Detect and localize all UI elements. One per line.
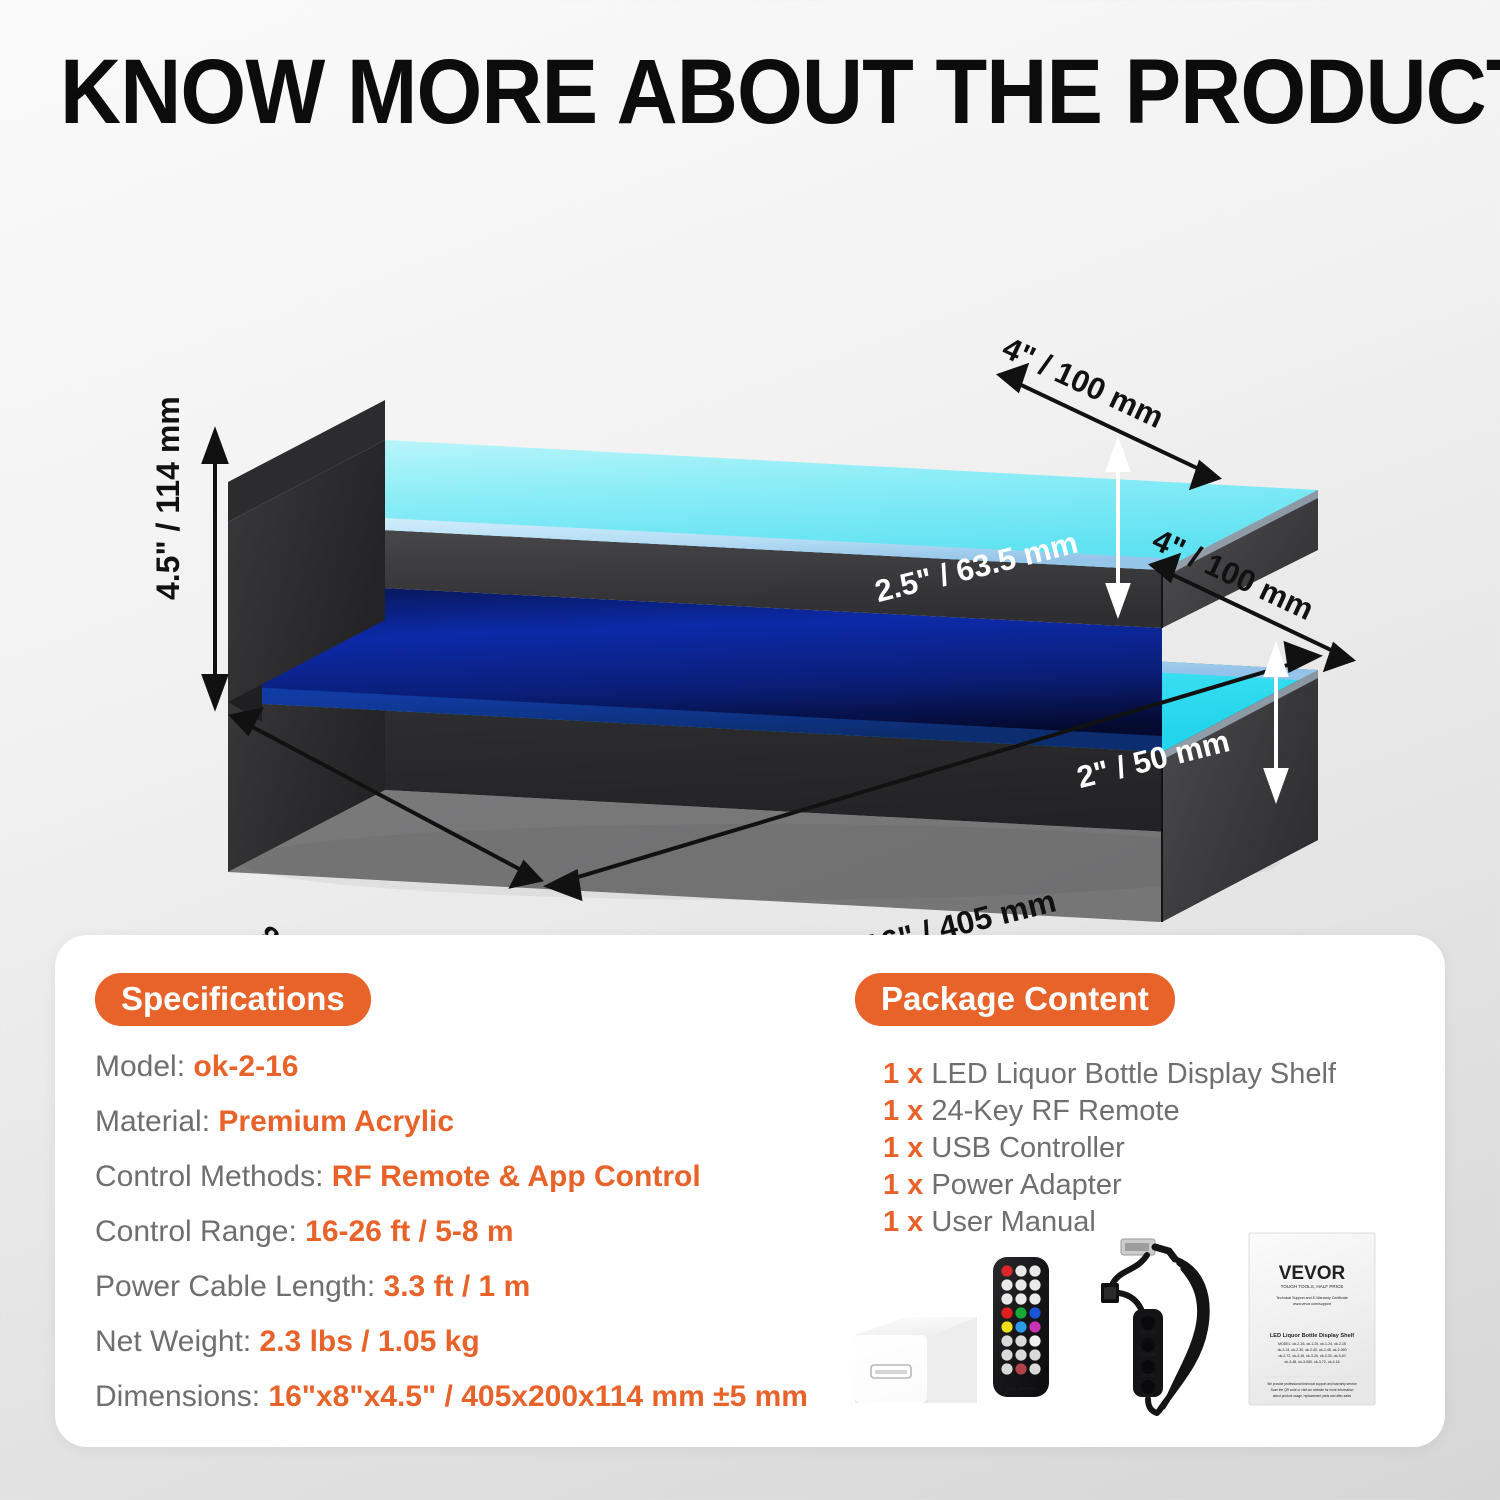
spec-value: 16"x8"x4.5" / 405x200x114 mm ±5 mm — [268, 1380, 808, 1413]
svg-text:MODE: MODE — [1142, 1373, 1155, 1378]
specifications-badge: Specifications — [95, 973, 371, 1026]
item-name: Power Adapter — [931, 1169, 1121, 1201]
item-qty: 1 x — [883, 1095, 923, 1127]
product-diagram: 4" / 100 mm 4" / 100 mm 4.5" / 114 mm 2.… — [0, 150, 1500, 930]
spec-value: Premium Acrylic — [218, 1105, 454, 1138]
accessory-photos: 2.4G Wireless ON/ — [845, 1225, 1405, 1425]
info-card: Specifications Model: ok-2-16 Material: … — [55, 935, 1445, 1447]
spec-key: Model: — [95, 1050, 185, 1083]
spec-value: 3.3 ft / 1 m — [384, 1270, 531, 1303]
item-name: 24-Key RF Remote — [931, 1095, 1179, 1127]
manual-brand-text: VEVOR — [1279, 1263, 1346, 1284]
spec-row: Control Range: 16-26 ft / 5-8 m — [95, 1217, 895, 1247]
item-qty: 1 x — [883, 1132, 923, 1164]
spec-row: Control Methods: RF Remote & App Control — [95, 1162, 895, 1192]
spec-key: Control Methods: — [95, 1160, 323, 1193]
list-item: 1 x LED Liquor Bottle Display Shelf — [883, 1056, 1415, 1093]
spec-row: Net Weight: 2.3 lbs / 1.05 kg — [95, 1327, 895, 1357]
svg-text:MODEL: ok-2-16, ok-1-20, ok-1-: MODEL: ok-2-16, ok-1-20, ok-1-24, ok-2-1… — [1278, 1342, 1346, 1346]
package-content-badge: Package Content — [855, 973, 1175, 1026]
spec-key: Control Range: — [95, 1215, 297, 1248]
svg-text:2.4G Wireless: 2.4G Wireless — [1007, 1386, 1036, 1391]
dim-label-height-left: 4.5" / 114 mm — [150, 396, 187, 600]
svg-text:ok-2-72, ok-3-16, ok-3-20, ok-: ok-2-72, ok-3-16, ok-3-20, ok-3-30, ok-3… — [1278, 1354, 1345, 1358]
list-item: 1 x Power Adapter — [883, 1167, 1415, 1204]
list-item: 1 x 24-Key RF Remote — [883, 1093, 1415, 1130]
spec-row: Power Cable Length: 3.3 ft / 1 m — [95, 1272, 895, 1302]
manual-title-text: LED Liquor Bottle Display Shelf — [1270, 1333, 1354, 1339]
spec-row: Dimensions: 16"x8"x4.5" / 405x200x114 mm… — [95, 1382, 895, 1412]
spec-value: 16-26 ft / 5-8 m — [305, 1215, 513, 1248]
svg-text:ON/OFF: ON/OFF — [1140, 1330, 1157, 1335]
svg-text:We provide professional techni: We provide professional technical suppor… — [1267, 1382, 1357, 1386]
user-manual-image: VEVOR TOUGH TOOLS, HALF PRICE Technical … — [1249, 1233, 1375, 1405]
svg-text:Scan the QR code or visit our: Scan the QR code or visit our website fo… — [1271, 1388, 1354, 1392]
svg-text:Technical Support and E-Warran: Technical Support and E-Warranty Certifi… — [1276, 1296, 1348, 1300]
power-adapter-image — [855, 1317, 977, 1403]
svg-text:ok-3-48, ok-3-060, ok-3-72, ok: ok-3-48, ok-3-060, ok-3-72, ok-4-16 — [1284, 1360, 1339, 1364]
specifications-section: Specifications Model: ok-2-16 Material: … — [95, 973, 895, 1437]
list-item: 1 x USB Controller — [883, 1130, 1415, 1167]
item-name: USB Controller — [931, 1132, 1124, 1164]
svg-text:www.vevor.com/support: www.vevor.com/support — [1293, 1302, 1331, 1306]
spec-value: RF Remote & App Control — [332, 1160, 701, 1193]
spec-row: Model: ok-2-16 — [95, 1052, 895, 1082]
item-qty: 1 x — [883, 1169, 923, 1201]
manual-tagline-text: TOUGH TOOLS, HALF PRICE — [1281, 1284, 1344, 1289]
spec-key: Material: — [95, 1105, 210, 1138]
package-content-list: 1 x LED Liquor Bottle Display Shelf 1 x … — [855, 1056, 1415, 1242]
spec-row: Material: Premium Acrylic — [95, 1107, 895, 1137]
usb-controller-image: ON/OFF COLOR MODE MUSIC — [1101, 1239, 1207, 1413]
item-name: LED Liquor Bottle Display Shelf — [931, 1058, 1336, 1090]
page-title: KNOW MORE ABOUT THE PRODUCT — [60, 46, 1440, 138]
svg-text:ok-2-24, ok-2-30, ok-2-40, ok-: ok-2-24, ok-2-30, ok-2-40, ok-2-48, ok-2… — [1277, 1348, 1346, 1352]
spec-key: Power Cable Length: — [95, 1270, 375, 1303]
specifications-list: Model: ok-2-16 Material: Premium Acrylic… — [95, 1052, 895, 1412]
svg-text:COLOR: COLOR — [1140, 1352, 1155, 1357]
spec-key: Net Weight: — [95, 1325, 251, 1358]
rf-remote-image: 2.4G Wireless — [993, 1257, 1049, 1397]
item-qty: 1 x — [883, 1058, 923, 1090]
spec-key: Dimensions: — [95, 1380, 260, 1413]
package-content-section: Package Content 1 x LED Liquor Bottle Di… — [855, 973, 1415, 1242]
spec-value: ok-2-16 — [193, 1050, 298, 1083]
spec-value: 2.3 lbs / 1.05 kg — [260, 1325, 480, 1358]
svg-text:about product usage, replaceme: about product usage, replacement parts a… — [1273, 1394, 1352, 1398]
